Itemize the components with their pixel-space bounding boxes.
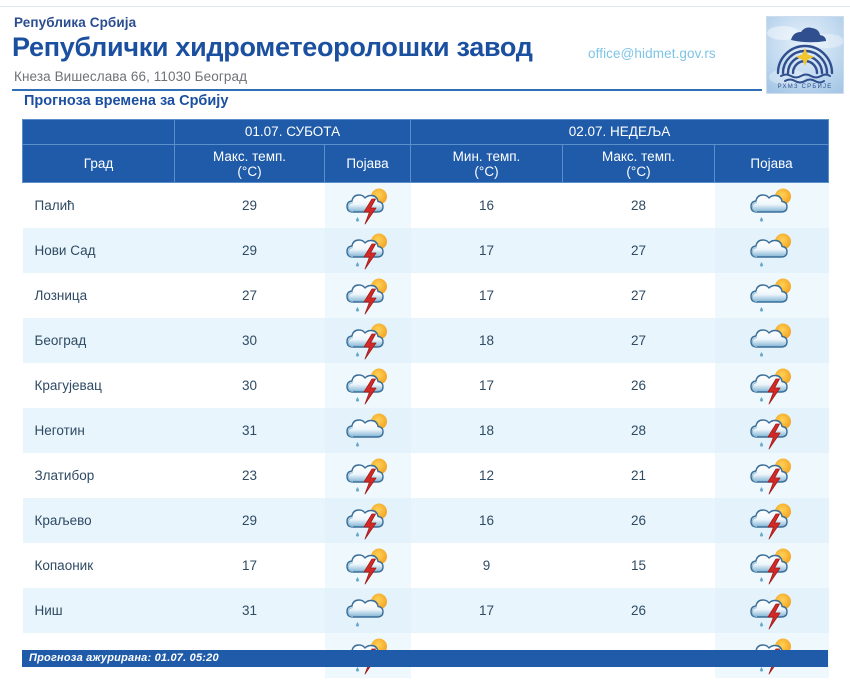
cell-sat-max: 29 — [175, 498, 325, 543]
cell-sat-max: 29 — [175, 228, 325, 273]
cell-sat-max: 30 — [175, 363, 325, 408]
sun-cloud-rain-thunder-icon — [746, 591, 798, 631]
sun-cloud-rain-thunder-icon — [746, 501, 798, 541]
cell-sat-max: 31 — [175, 588, 325, 633]
logo-caption-text: РХМЗ СРБИЈЕ — [778, 84, 833, 90]
col-header-sat-icon: Појава — [325, 145, 411, 183]
sun-cloud-rain-thunder-icon — [746, 411, 798, 451]
update-text: Прогноза ажурирана: 01.07. 05:20 — [22, 650, 828, 667]
cell-sat-icon — [325, 588, 411, 633]
cell-sun-icon — [715, 588, 829, 633]
cell-sun-icon — [715, 453, 829, 498]
table-row: Копаоник17915 — [23, 543, 829, 588]
sun-cloud-rain-thunder-icon — [342, 231, 394, 271]
cell-sat-icon — [325, 453, 411, 498]
cell-sun-icon — [715, 273, 829, 318]
table-row: Палић291628 — [23, 183, 829, 229]
cell-sun-min: 17 — [411, 228, 563, 273]
sun-cloud-rain-thunder-icon — [342, 186, 394, 226]
col-header-sat-max-label: Макс. темп. — [213, 149, 286, 164]
cell-sat-icon — [325, 183, 411, 229]
col-header-city-label: Град — [84, 156, 113, 171]
col-header-sun-min: Мин. темп. (°C) — [411, 145, 563, 183]
cell-city: Ниш — [23, 588, 175, 633]
table-head: 01.07. СУБОТА 02.07. НЕДЕЉА Град Макс. т… — [23, 120, 829, 183]
col-header-sun-max: Макс. темп. (°C) — [563, 145, 715, 183]
table-row: Београд301827 — [23, 318, 829, 363]
sun-cloud-rain-thunder-icon — [342, 456, 394, 496]
col-header-sun-max-unit: (°C) — [563, 164, 714, 179]
update-bar: Прогноза ажурирана: 01.07. 05:20 — [22, 650, 828, 667]
cell-city: Крагујевац — [23, 363, 175, 408]
cell-sun-icon — [715, 498, 829, 543]
sun-cloud-rain-thunder-icon — [342, 276, 394, 316]
cell-city: Златибор — [23, 453, 175, 498]
country-line: Република Србија — [14, 15, 136, 30]
cell-city: Палић — [23, 183, 175, 229]
col-header-sun-icon: Појава — [715, 145, 829, 183]
cell-sun-min: 16 — [411, 498, 563, 543]
cell-sun-max: 26 — [563, 588, 715, 633]
cell-sun-max: 15 — [563, 543, 715, 588]
col-header-sun-min-unit: (°C) — [411, 164, 562, 179]
day-header-row: 01.07. СУБОТА 02.07. НЕДЕЉА — [23, 120, 829, 145]
sun-cloud-rain-thunder-icon — [342, 321, 394, 361]
cell-sat-icon — [325, 318, 411, 363]
cell-sat-max: 29 — [175, 183, 325, 229]
cell-sun-min: 17 — [411, 363, 563, 408]
col-header-sat-max-unit: (°C) — [175, 164, 324, 179]
table-row: Нови Сад291727 — [23, 228, 829, 273]
institute-title: Републички хидрометеоролошки завод — [12, 32, 533, 62]
cell-city: Београд — [23, 318, 175, 363]
cell-sun-icon — [715, 318, 829, 363]
table-row: Ниш311726 — [23, 588, 829, 633]
cell-sun-min: 12 — [411, 453, 563, 498]
sun-cloud-rain-icon — [746, 321, 798, 361]
cell-sat-max: 17 — [175, 543, 325, 588]
cell-city: Копаоник — [23, 543, 175, 588]
sun-cloud-rain-thunder-icon — [746, 456, 798, 496]
forecast-page: Република Србија Републички хидрометеоро… — [0, 0, 850, 689]
cell-sat-icon — [325, 228, 411, 273]
col-header-sun-max-label: Макс. темп. — [602, 149, 675, 164]
cell-sun-min: 18 — [411, 318, 563, 363]
sun-cloud-rain-thunder-icon — [342, 501, 394, 541]
sun-cloud-rain-thunder-icon — [342, 366, 394, 406]
sun-cloud-rain-thunder-icon — [746, 546, 798, 586]
cell-sun-max: 27 — [563, 273, 715, 318]
sun-cloud-rain-icon — [342, 591, 394, 631]
cell-sun-max: 21 — [563, 453, 715, 498]
cell-sat-max: 23 — [175, 453, 325, 498]
cell-city: Краљево — [23, 498, 175, 543]
sun-cloud-rain-thunder-icon — [342, 546, 394, 586]
cell-sun-min: 17 — [411, 588, 563, 633]
day-header-saturday: 01.07. СУБОТА — [175, 120, 411, 145]
rhmz-logo-icon: РХМЗ СРБИЈЕ — [767, 17, 843, 93]
col-header-sat-icon-label: Појава — [346, 156, 388, 171]
table-row: Краљево291626 — [23, 498, 829, 543]
cell-sun-max: 26 — [563, 498, 715, 543]
table-body: Палић291628Нови Сад291727Лозница271727Бе… — [23, 183, 829, 679]
cell-sat-icon — [325, 498, 411, 543]
sun-cloud-rain-icon — [746, 186, 798, 226]
cell-sun-max: 26 — [563, 363, 715, 408]
sun-cloud-rain-icon — [746, 276, 798, 316]
cell-sun-max: 28 — [563, 408, 715, 453]
cell-sun-min: 17 — [411, 273, 563, 318]
rhmz-logo: РХМЗ СРБИЈЕ — [766, 16, 844, 94]
forecast-table: 01.07. СУБОТА 02.07. НЕДЕЉА Град Макс. т… — [22, 119, 829, 678]
cell-sun-icon — [715, 408, 829, 453]
sun-cloud-rain-icon — [746, 231, 798, 271]
day-header-sunday: 02.07. НЕДЕЉА — [411, 120, 829, 145]
forecast-table-wrap: 01.07. СУБОТА 02.07. НЕДЕЉА Град Макс. т… — [22, 119, 828, 678]
header-divider — [12, 89, 762, 91]
cell-sat-icon — [325, 273, 411, 318]
address-line: Кнеза Вишеслава 66, 11030 Београд — [14, 69, 247, 84]
column-header-row: Град Макс. темп. (°C) Појава Мин. темп. … — [23, 145, 829, 183]
cell-sun-min: 18 — [411, 408, 563, 453]
table-row: Крагујевац301726 — [23, 363, 829, 408]
cell-sat-icon — [325, 408, 411, 453]
cell-sun-min: 9 — [411, 543, 563, 588]
day-header-blank — [23, 120, 175, 145]
cell-sat-icon — [325, 363, 411, 408]
col-header-sun-icon-label: Појава — [750, 156, 792, 171]
cell-sun-max: 27 — [563, 228, 715, 273]
col-header-city: Град — [23, 145, 175, 183]
cell-sat-icon — [325, 543, 411, 588]
table-row: Неготин311828 — [23, 408, 829, 453]
sun-cloud-rain-thunder-icon — [746, 366, 798, 406]
cell-sun-max: 27 — [563, 318, 715, 363]
cell-sun-icon — [715, 363, 829, 408]
table-row: Лозница271727 — [23, 273, 829, 318]
cell-sat-max: 30 — [175, 318, 325, 363]
cell-sun-icon — [715, 183, 829, 229]
col-header-sun-min-label: Мин. темп. — [453, 149, 521, 164]
cell-sat-max: 31 — [175, 408, 325, 453]
table-row: Златибор231221 — [23, 453, 829, 498]
cell-sat-max: 27 — [175, 273, 325, 318]
page-title: Прогноза времена за Србију — [24, 93, 228, 109]
cell-city: Нови Сад — [23, 228, 175, 273]
contact-email: office@hidmet.gov.rs — [588, 46, 716, 61]
cell-city: Лозница — [23, 273, 175, 318]
cell-sun-max: 28 — [563, 183, 715, 229]
cell-city: Неготин — [23, 408, 175, 453]
cell-sun-min: 16 — [411, 183, 563, 229]
cell-sun-icon — [715, 228, 829, 273]
cell-sun-icon — [715, 543, 829, 588]
sun-cloud-rain-icon — [342, 411, 394, 451]
col-header-sat-max: Макс. темп. (°C) — [175, 145, 325, 183]
site-header: Република Србија Републички хидрометеоро… — [0, 7, 850, 87]
